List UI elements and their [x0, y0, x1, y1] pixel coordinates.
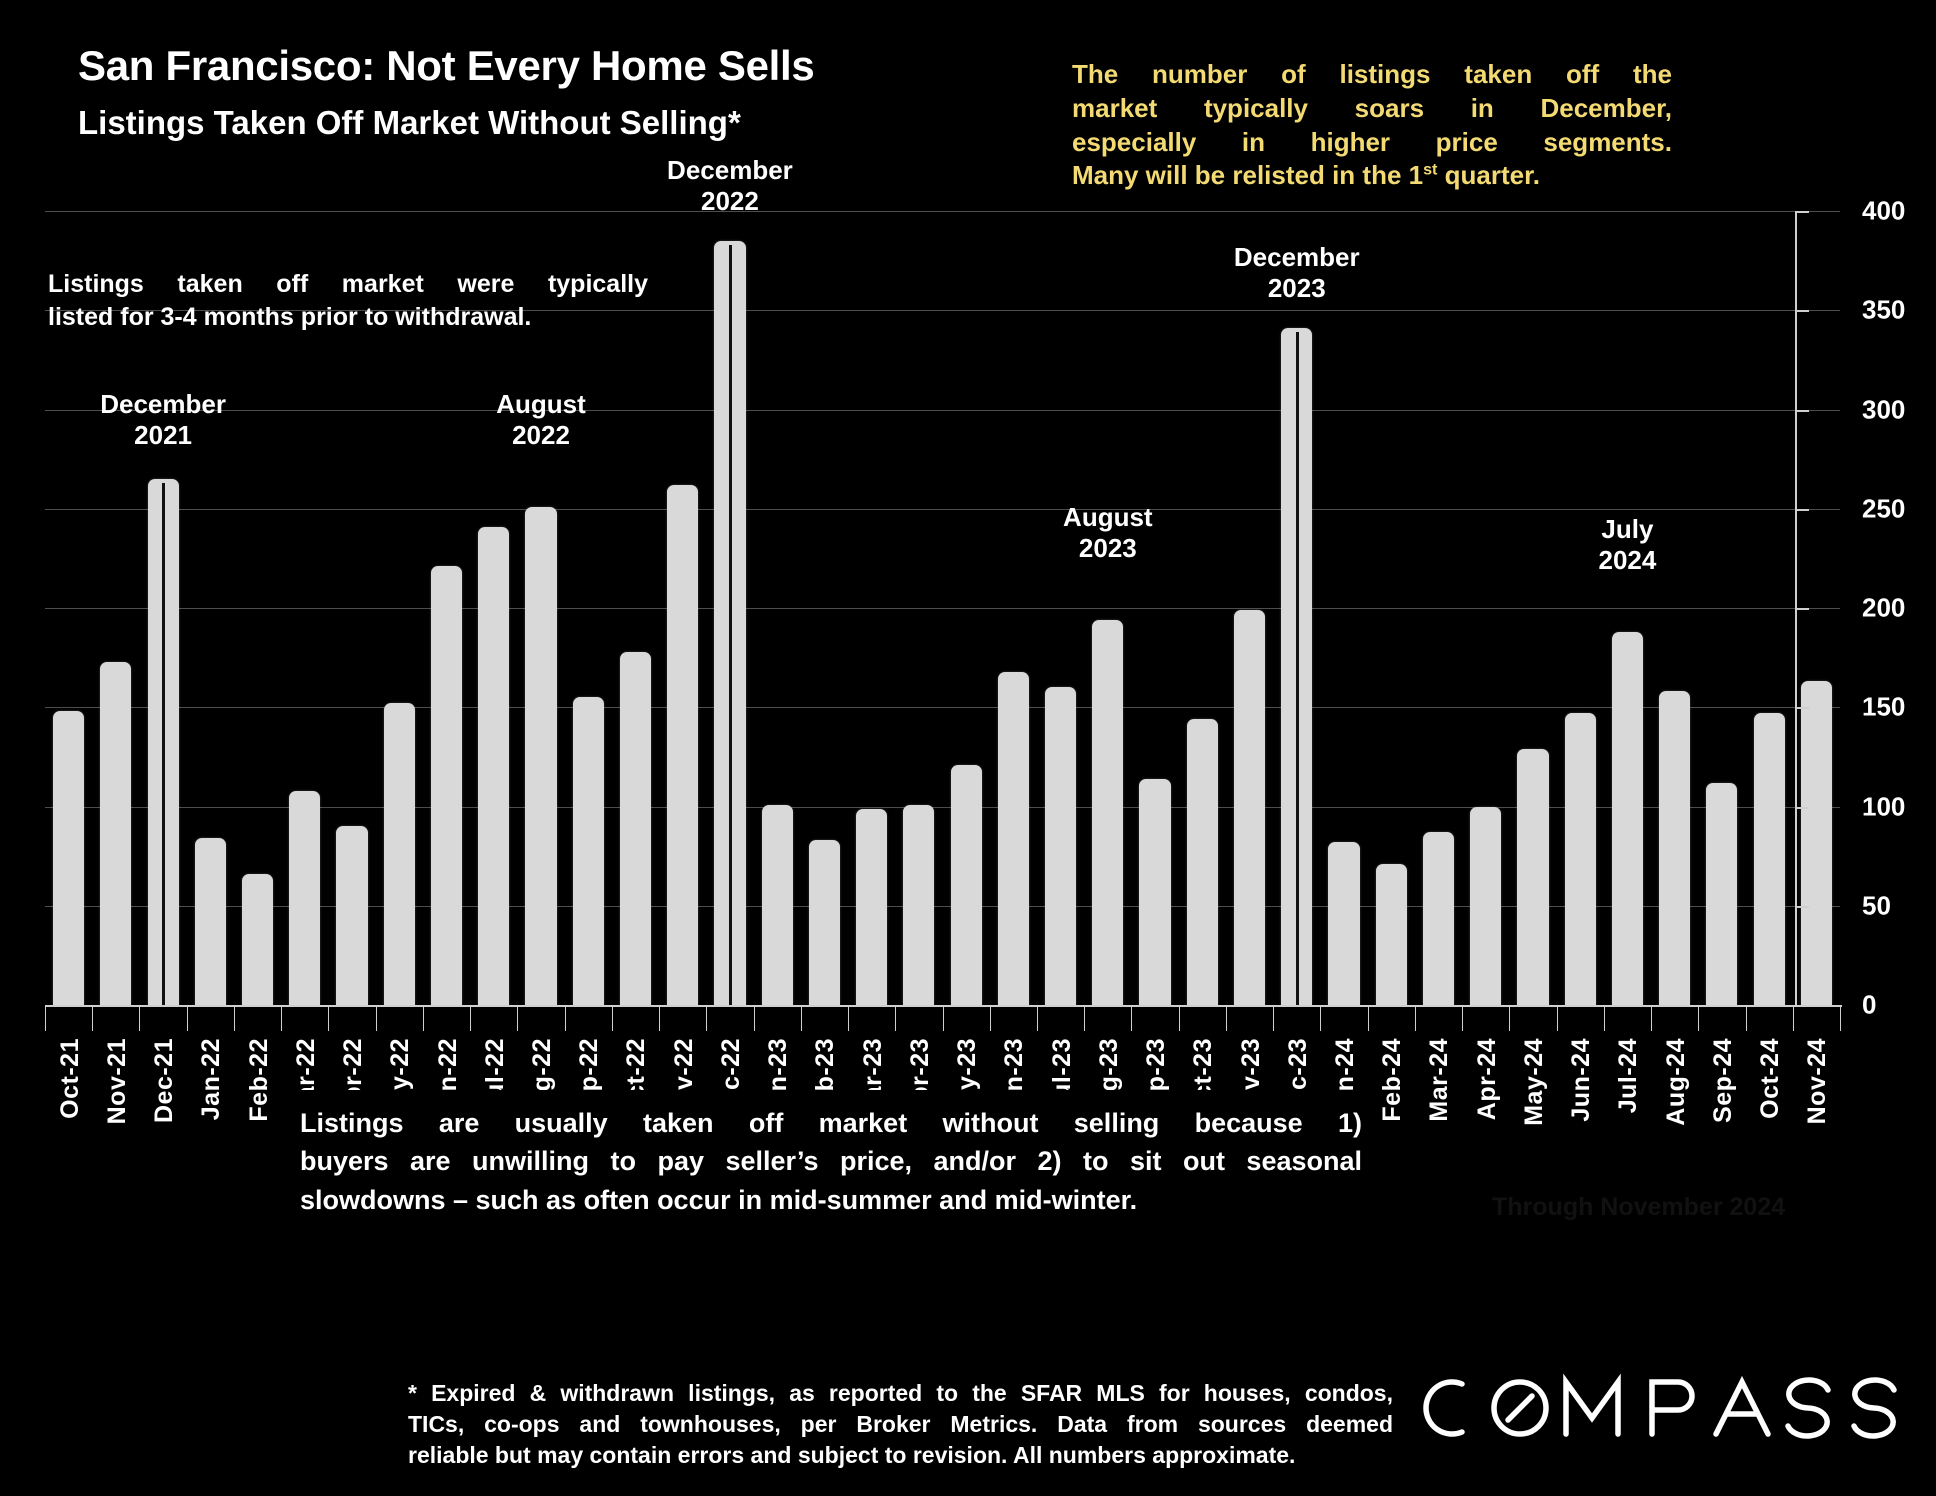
ordinal-suffix: st [1423, 161, 1437, 179]
yellow-callout-line-4-pre: Many will be relisted in the 1 [1072, 160, 1423, 190]
bar-feb-23[interactable] [809, 840, 840, 1005]
bar-annotation-dec-22: December2022 [630, 155, 830, 217]
x-axis-tick [1320, 1007, 1321, 1031]
x-axis-tick [1651, 1007, 1652, 1031]
x-axis-label-oct-21: Oct-21 [56, 1038, 85, 1119]
chart-canvas: San Francisco: Not Every Home Sells List… [0, 0, 1936, 1496]
x-axis-tick [895, 1007, 896, 1031]
bar-dec-23[interactable] [1281, 328, 1312, 1005]
bar-oct-23[interactable] [1187, 719, 1218, 1005]
x-axis-tick [801, 1007, 802, 1031]
bar-apr-22[interactable] [336, 826, 367, 1005]
bar-annotation-aug-23: August2023 [1008, 502, 1208, 564]
yellow-callout: The number of listings taken off the mar… [1072, 58, 1672, 193]
bar-mar-24[interactable] [1423, 832, 1454, 1005]
bar-jan-23[interactable] [762, 805, 793, 1005]
bar-nov-24[interactable] [1801, 681, 1832, 1005]
x-axis-label-feb-22: Feb-22 [245, 1038, 274, 1122]
x-axis-tick [990, 1007, 991, 1031]
x-axis-tick [754, 1007, 755, 1031]
footnote-line-3: reliable but may contain errors and subj… [408, 1440, 1393, 1471]
x-axis-tick [139, 1007, 140, 1031]
bar-jun-24[interactable] [1565, 713, 1596, 1005]
x-axis-tick [1557, 1007, 1558, 1031]
bar-jun-23[interactable] [998, 672, 1029, 1005]
x-axis-label-jul-24: Jul-24 [1614, 1038, 1643, 1113]
page-title: San Francisco: Not Every Home Sells [78, 42, 814, 90]
x-axis-tick [848, 1007, 849, 1031]
annotation-month: August [441, 389, 641, 420]
explanation-line-1: Listings are usually taken off market wi… [300, 1104, 1362, 1142]
x-axis-tick [281, 1007, 282, 1031]
x-axis-tick [1273, 1007, 1274, 1031]
annotation-year: 2023 [1197, 273, 1397, 304]
x-axis-tick [1840, 1007, 1841, 1031]
through-date-label: Through November 2024 [1492, 1193, 1785, 1222]
x-axis-label-mar-24: Mar-24 [1425, 1038, 1454, 1122]
bar-oct-24[interactable] [1754, 713, 1785, 1005]
bar-nov-23[interactable] [1234, 610, 1265, 1005]
bar-oct-22[interactable] [620, 652, 651, 1005]
x-axis-tick [706, 1007, 707, 1031]
annotation-month: December [630, 155, 830, 186]
footnote-line-2: TICs, co-ops and townhouses, per Broker … [408, 1409, 1393, 1440]
x-axis-label-aug-24: Aug-24 [1662, 1038, 1691, 1126]
y-axis-tick-label: 100 [1862, 791, 1905, 822]
y-axis-tick-label: 300 [1862, 394, 1905, 425]
bar-may-23[interactable] [951, 765, 982, 1005]
bar-jan-24[interactable] [1328, 842, 1359, 1005]
y-axis-tick [1795, 211, 1809, 213]
x-axis-tick [1368, 1007, 1369, 1031]
compass-wordmark-icon [1416, 1368, 1916, 1450]
annotation-year: 2021 [63, 420, 263, 451]
footnote: * Expired & withdrawn listings, as repor… [408, 1378, 1393, 1470]
bar-dec-21[interactable] [148, 479, 179, 1005]
bar-oct-21[interactable] [53, 711, 84, 1005]
bar-apr-23[interactable] [903, 805, 934, 1005]
x-axis-tick [1084, 1007, 1085, 1031]
bar-mar-23[interactable] [856, 809, 887, 1006]
bar-jul-23[interactable] [1045, 687, 1076, 1005]
bar-annotation-dec-23: December2023 [1197, 242, 1397, 304]
x-axis-label-may-24: May-24 [1520, 1038, 1549, 1126]
x-axis-label-dec-21: Dec-21 [150, 1038, 179, 1123]
bar-nov-21[interactable] [100, 662, 131, 1005]
annotation-month: August [1008, 502, 1208, 533]
x-axis-label-oct-24: Oct-24 [1756, 1038, 1785, 1119]
x-axis-tick [659, 1007, 660, 1031]
yellow-callout-line-2: market typically soars in December, [1072, 92, 1672, 126]
bar-dec-22[interactable] [714, 241, 745, 1005]
x-axis-tick [1131, 1007, 1132, 1031]
y-axis-tick-label: 200 [1862, 593, 1905, 624]
explanation-line-2: buyers are unwilling to pay seller’s pri… [300, 1142, 1362, 1180]
bar-jun-22[interactable] [431, 566, 462, 1005]
bar-annotation-dec-21: December2021 [63, 389, 263, 451]
y-axis-tick [1795, 410, 1809, 412]
y-axis-tick [1795, 906, 1809, 908]
bar-annotation-aug-22: August2022 [441, 389, 641, 451]
compass-logo [1416, 1368, 1916, 1450]
yellow-callout-line-4-post: quarter. [1437, 160, 1540, 190]
x-axis-label-jan-22: Jan-22 [197, 1038, 226, 1120]
x-axis-tick [1746, 1007, 1747, 1031]
x-axis-label-apr-24: Apr-24 [1473, 1038, 1502, 1120]
y-axis-tick-label: 150 [1862, 692, 1905, 723]
bar-aug-24[interactable] [1659, 691, 1690, 1005]
page-subtitle: Listings Taken Off Market Without Sellin… [78, 104, 741, 142]
footnote-line-1: * Expired & withdrawn listings, as repor… [408, 1378, 1393, 1409]
x-axis-tick [565, 1007, 566, 1031]
x-axis-tick [1793, 1007, 1794, 1031]
bar-jul-22[interactable] [478, 527, 509, 1005]
x-axis-tick [1509, 1007, 1510, 1031]
x-axis-tick [612, 1007, 613, 1031]
y-axis-tick-label: 400 [1862, 196, 1905, 227]
annotation-year: 2023 [1008, 533, 1208, 564]
x-axis-tick [470, 1007, 471, 1031]
y-axis-tick [1795, 707, 1809, 709]
bar-jan-22[interactable] [195, 838, 226, 1005]
y-axis-tick-label: 350 [1862, 295, 1905, 326]
yellow-callout-line-4: Many will be relisted in the 1st quarter… [1072, 159, 1672, 193]
annotation-month: December [1197, 242, 1397, 273]
y-axis-tick [1795, 807, 1809, 809]
y-axis-tick [1795, 608, 1809, 610]
bar-jul-24[interactable] [1612, 632, 1643, 1005]
explanation-line-3: slowdowns – such as often occur in mid-s… [300, 1181, 1362, 1219]
left-callout-line-1: Listings taken off market were typically [48, 268, 648, 301]
x-axis-tick [1179, 1007, 1180, 1031]
x-axis-tick [1415, 1007, 1416, 1031]
bar-sep-23[interactable] [1139, 779, 1170, 1005]
annotation-month: July [1527, 514, 1727, 545]
x-axis-tick [376, 1007, 377, 1031]
x-axis-tick [1037, 1007, 1038, 1031]
x-axis-label-nov-21: Nov-21 [103, 1038, 132, 1124]
yellow-callout-line-1: The number of listings taken off the [1072, 58, 1672, 92]
annotation-year: 2022 [630, 186, 830, 217]
annotation-year: 2024 [1527, 545, 1727, 576]
bar-aug-22[interactable] [525, 507, 556, 1005]
x-axis-tick [92, 1007, 93, 1031]
bar-sep-24[interactable] [1706, 783, 1737, 1005]
x-axis-tick [943, 1007, 944, 1031]
left-callout-line-2: listed for 3-4 months prior to withdrawa… [48, 301, 648, 334]
x-axis-label-sep-24: Sep-24 [1709, 1038, 1738, 1123]
bar-may-24[interactable] [1517, 749, 1548, 1005]
x-axis-tick [328, 1007, 329, 1031]
x-axis-tick [423, 1007, 424, 1031]
bar-sep-22[interactable] [573, 697, 604, 1005]
y-axis-tick-label: 0 [1862, 990, 1876, 1021]
x-axis-tick [234, 1007, 235, 1031]
x-axis-label-jun-24: Jun-24 [1567, 1038, 1596, 1122]
bar-apr-24[interactable] [1470, 807, 1501, 1006]
x-axis-tick [1462, 1007, 1463, 1031]
bar-aug-23[interactable] [1092, 620, 1123, 1005]
x-axis-tick [1698, 1007, 1699, 1031]
x-axis-tick [517, 1007, 518, 1031]
annotation-month: December [63, 389, 263, 420]
bar-annotation-jul-24: July2024 [1527, 514, 1727, 576]
y-axis-tick [1795, 509, 1809, 511]
y-axis-tick-label: 50 [1862, 890, 1891, 921]
x-axis-tick [187, 1007, 188, 1031]
x-axis-label-feb-24: Feb-24 [1378, 1038, 1407, 1122]
x-axis-tick [45, 1007, 46, 1031]
bar-may-22[interactable] [384, 703, 415, 1005]
annotation-year: 2022 [441, 420, 641, 451]
yellow-callout-line-3: especially in higher price segments. [1072, 126, 1672, 160]
bar-feb-22[interactable] [242, 874, 273, 1005]
y-axis-tick-label: 250 [1862, 493, 1905, 524]
y-axis-tick [1795, 310, 1809, 312]
x-axis-label-nov-24: Nov-24 [1803, 1038, 1832, 1124]
explanation-box: Listings are usually taken off market wi… [294, 1090, 1368, 1231]
bar-nov-22[interactable] [667, 485, 698, 1005]
bar-mar-22[interactable] [289, 791, 320, 1005]
left-callout: Listings taken off market were typically… [48, 268, 648, 334]
bar-feb-24[interactable] [1376, 864, 1407, 1005]
x-axis-tick [1226, 1007, 1227, 1031]
x-axis-tick [1604, 1007, 1605, 1031]
